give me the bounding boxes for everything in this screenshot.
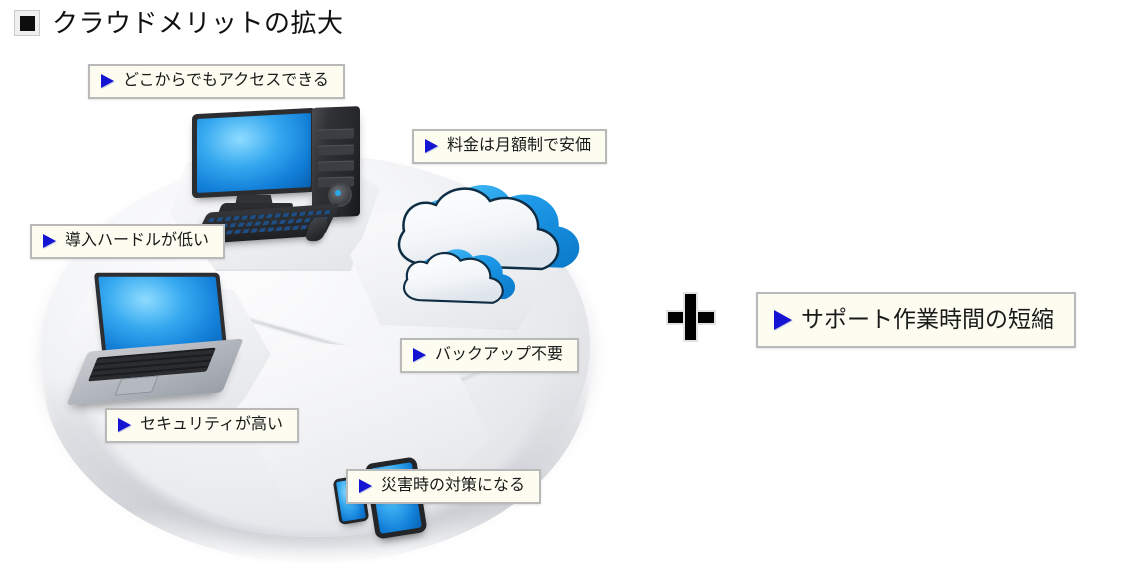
blue-triangle-bullet-icon [43, 234, 56, 248]
callout-access[interactable]: どこからでもアクセスできる [88, 64, 345, 99]
blue-triangle-bullet-icon [413, 348, 426, 362]
callout-hurdle[interactable]: 導入ハードルが低い [30, 224, 225, 259]
callout-price[interactable]: 料金は月額制で安価 [412, 129, 607, 164]
callout-security[interactable]: セキュリティが高い [105, 408, 299, 443]
callout-label: どこからでもアクセスできる [123, 71, 329, 91]
blue-triangle-bullet-icon [118, 418, 131, 432]
callout-label: バックアップ不要 [435, 345, 563, 365]
blue-triangle-bullet-icon [774, 310, 792, 330]
callout-label: 導入ハードルが低い [65, 231, 209, 251]
blue-triangle-bullet-icon [425, 139, 438, 153]
cloud-icon [372, 175, 602, 325]
callout-label: 料金は月額制で安価 [447, 136, 591, 156]
blue-triangle-bullet-icon [359, 479, 372, 493]
plus-sign-icon [668, 294, 714, 340]
callout-support[interactable]: サポート作業時間の短縮 [756, 292, 1076, 348]
page-title-text: クラウドメリットの拡大 [52, 8, 344, 38]
blue-triangle-bullet-icon [101, 74, 114, 88]
desktop-tower-icon [312, 106, 360, 218]
filled-square-bullet-icon [14, 10, 40, 36]
desktop-monitor-icon [192, 108, 316, 198]
callout-disaster[interactable]: 災害時の対策になる [346, 469, 541, 504]
callout-label: セキュリティが高い [140, 415, 283, 435]
page-title: クラウドメリットの拡大 [14, 8, 344, 38]
callout-label: サポート作業時間の短縮 [801, 305, 1054, 334]
callout-label: 災害時の対策になる [381, 476, 525, 496]
callout-backup[interactable]: バックアップ不要 [400, 338, 579, 373]
